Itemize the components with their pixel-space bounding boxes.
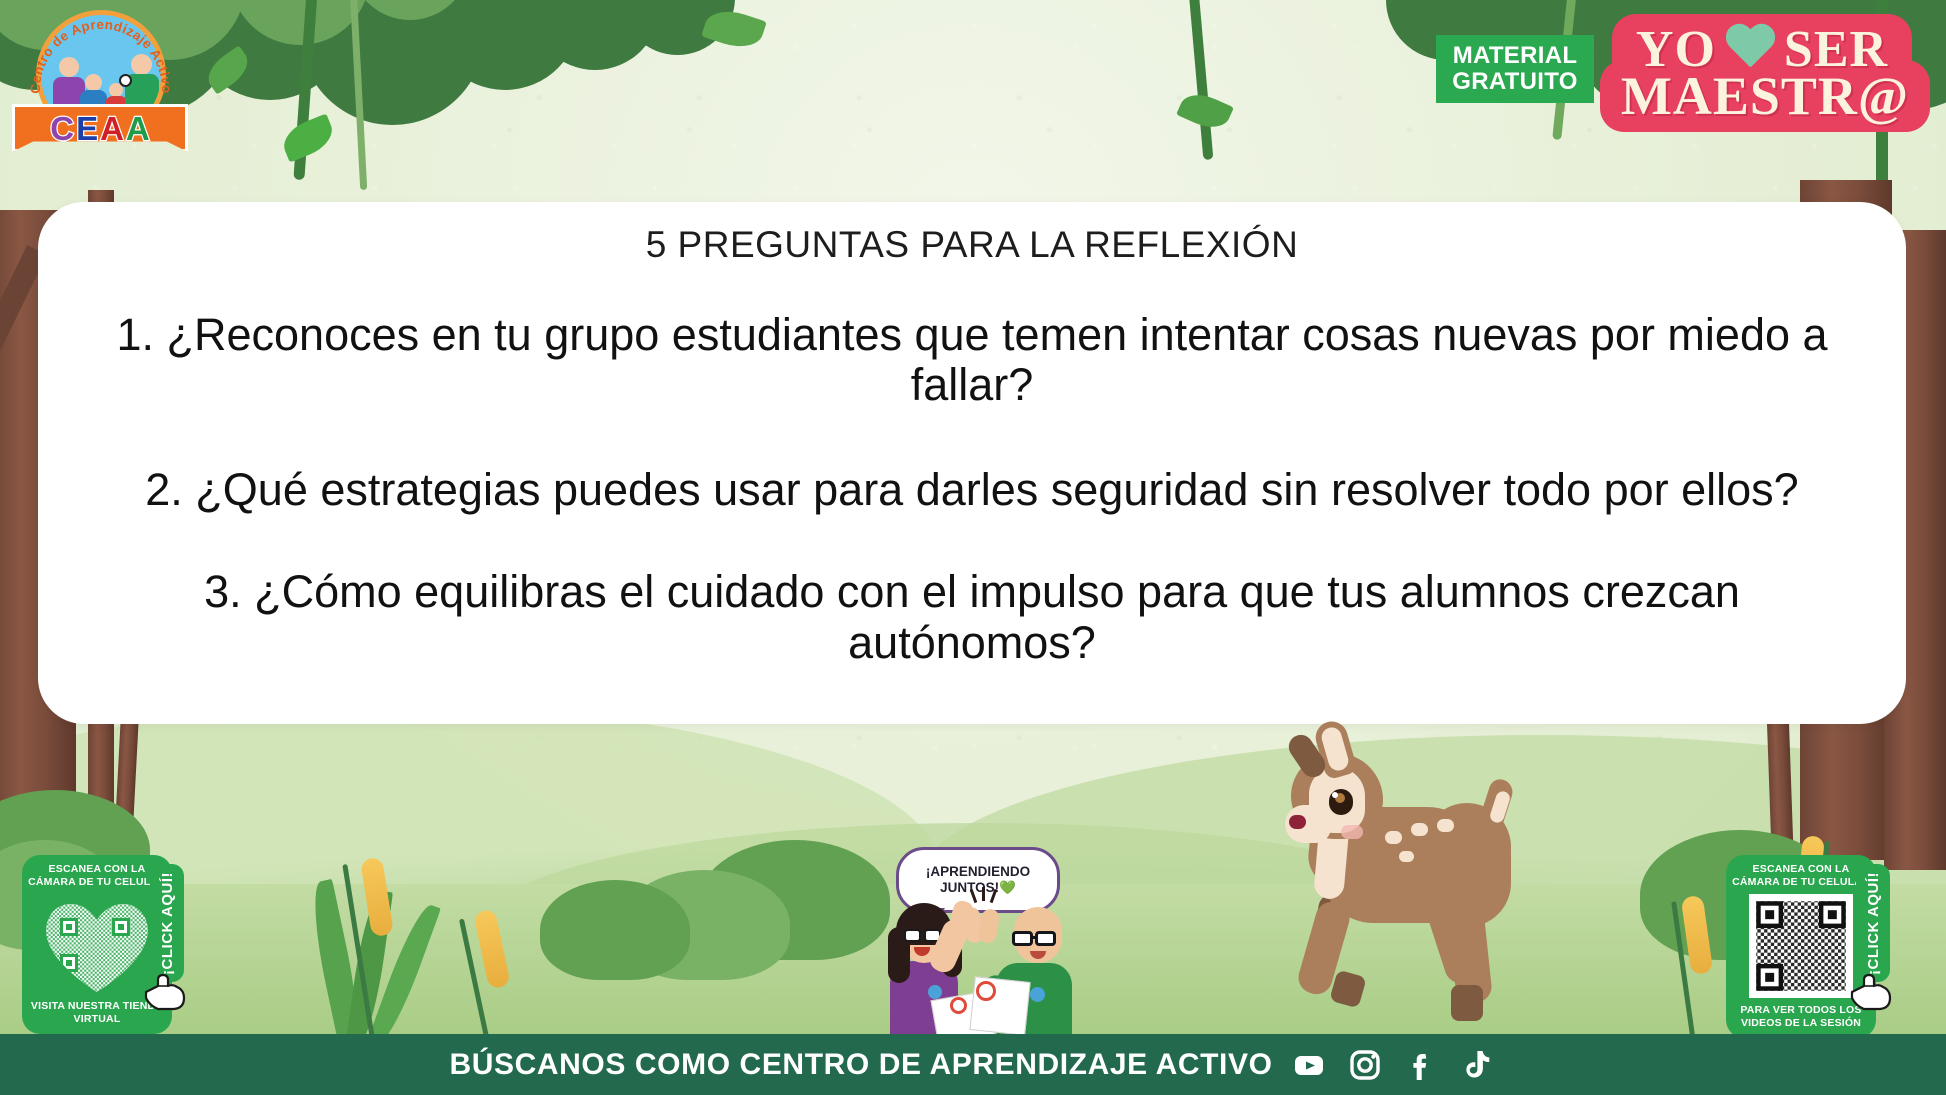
slide-root: Centro de Aprendizaje Activo C E A A MAT… bbox=[0, 0, 1946, 1095]
card-title: 5 PREGUNTAS PARA LA REFLEXIÓN bbox=[38, 224, 1906, 266]
click-here-tab-right[interactable]: ¡CLICK AQUÍ! bbox=[1856, 864, 1890, 982]
logo-letter-a1: A bbox=[100, 112, 124, 145]
question-3: 3. ¿Cómo equilibras el cuidado con el im… bbox=[100, 567, 1844, 668]
qr-right-top-line1: ESCANEA CON LA bbox=[1732, 863, 1870, 876]
qr-right-bottom-line2: VIDEOS DE LA SESIÓN bbox=[1732, 1017, 1870, 1030]
facebook-icon[interactable] bbox=[1401, 1045, 1441, 1085]
pointing-hand-icon-left bbox=[142, 972, 188, 1012]
click-here-tab-left[interactable]: ¡CLICK AQUÍ! bbox=[150, 864, 184, 982]
yo-badge-row-2: MAESTR@ bbox=[1600, 58, 1930, 134]
click-here-label-left: ¡CLICK AQUÍ! bbox=[159, 872, 176, 975]
qr-left-bottom-line2: VIRTUAL bbox=[28, 1013, 166, 1026]
speech-line-1: ¡APRENDIENDO bbox=[926, 864, 1030, 880]
qr-right-top-line2: CÁMARA DE TU CELULAR bbox=[1732, 876, 1870, 889]
material-gratuito-line2: GRATUITO bbox=[1442, 69, 1588, 95]
footer-text: BÚSCANOS COMO CENTRO DE APRENDIZAJE ACTI… bbox=[449, 1048, 1272, 1082]
qr-left-top-text: ESCANEA CON LA CÁMARA DE TU CELULAR bbox=[28, 863, 166, 888]
instagram-icon[interactable] bbox=[1345, 1045, 1385, 1085]
qr-code-heart[interactable] bbox=[38, 894, 156, 994]
logo-letter-e: E bbox=[76, 112, 98, 145]
yo-amo-ser-maestro-badge: YO SER MAESTR@ bbox=[1600, 8, 1934, 134]
tiktok-icon[interactable] bbox=[1457, 1045, 1497, 1085]
speech-line-2: JUNTOS! bbox=[940, 880, 999, 895]
bush-center-3 bbox=[540, 880, 690, 980]
qr-heart-svg bbox=[38, 894, 156, 994]
youtube-icon[interactable] bbox=[1289, 1045, 1329, 1085]
teachers-illustration: ¡APRENDIENDO JUNTOS!💚 bbox=[880, 855, 1115, 1040]
logo-letter-a2: A bbox=[126, 112, 150, 145]
deer-illustration bbox=[1255, 715, 1555, 1035]
question-2: 2. ¿Qué estrategias puedes usar para dar… bbox=[100, 465, 1844, 515]
speech-heart-icon: 💚 bbox=[999, 880, 1016, 895]
material-gratuito-line1: MATERIAL bbox=[1442, 43, 1588, 69]
material-gratuito-badge: MATERIAL GRATUITO bbox=[1436, 35, 1594, 103]
question-1: 1. ¿Reconoces en tu grupo estudiantes qu… bbox=[100, 310, 1844, 411]
maestro-word: MAESTR@ bbox=[1621, 65, 1909, 127]
reflection-card: 5 PREGUNTAS PARA LA REFLEXIÓN 1. ¿Recono… bbox=[38, 202, 1906, 724]
footer-bar: BÚSCANOS COMO CENTRO DE APRENDIZAJE ACTI… bbox=[0, 1034, 1946, 1095]
pointing-hand-icon-right bbox=[1848, 972, 1894, 1012]
qr-left-top-line1: ESCANEA CON LA bbox=[28, 863, 166, 876]
qr-code-square[interactable] bbox=[1749, 894, 1853, 998]
qr-square-svg bbox=[1754, 899, 1848, 993]
svg-text:Centro de Aprendizaje Activo: Centro de Aprendizaje Activo bbox=[28, 17, 174, 94]
ceaa-logo[interactable]: Centro de Aprendizaje Activo C E A A bbox=[12, 4, 188, 154]
logo-letter-c: C bbox=[50, 112, 74, 145]
qr-left-top-line2: CÁMARA DE TU CELULAR bbox=[28, 876, 166, 889]
click-here-label-right: ¡CLICK AQUÍ! bbox=[1865, 872, 1882, 975]
qr-right-top-text: ESCANEA CON LA CÁMARA DE TU CELULAR bbox=[1732, 863, 1870, 888]
logo-arc-label: Centro de Aprendizaje Activo bbox=[28, 17, 174, 94]
